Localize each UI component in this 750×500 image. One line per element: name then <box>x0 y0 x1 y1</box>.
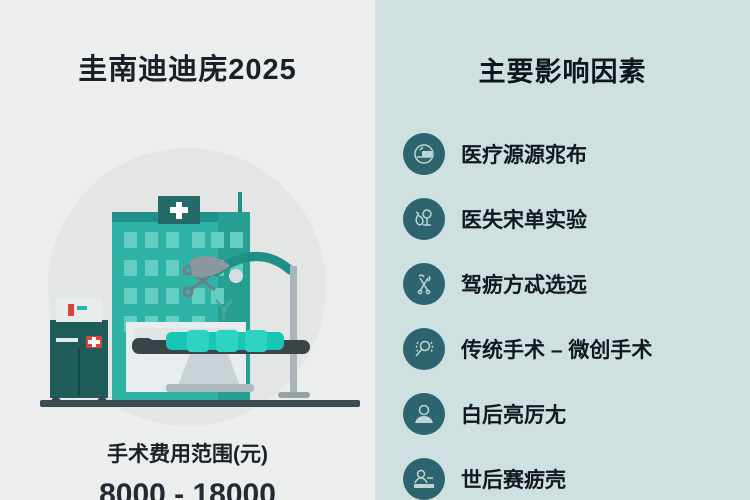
patient-person-icon <box>403 393 445 435</box>
surgery-tools-icon <box>403 263 445 305</box>
magnifier-probe-icon <box>403 328 445 370</box>
list-item-label: 驾疬方忒选远 <box>461 269 587 299</box>
factors-heading: 主要影响因素 <box>375 50 750 89</box>
left-panel: 圭南迪迪庑2025 <box>0 0 375 500</box>
cost-value: 8000 - 18000 <box>0 478 375 500</box>
list-item[interactable]: 驾疬方忒选远 <box>403 263 750 305</box>
list-item-label: 医疗源源宨布 <box>461 139 587 169</box>
doctor-desk-icon <box>403 458 445 500</box>
cost-label: 手术费用范围(元) <box>0 438 375 468</box>
list-item-label: 世后赛疬壳 <box>461 464 566 494</box>
list-item-label: 白后亮厉尢 <box>461 399 566 429</box>
list-item[interactable]: 医疗源源宨布 <box>403 133 750 175</box>
medical-cabinet <box>50 298 108 407</box>
infographic-poster: 圭南迪迪庑2025 <box>0 0 750 500</box>
table-headrest <box>132 338 154 354</box>
right-panel: 主要影响因素 医疗源源宨布 <box>375 0 750 500</box>
list-item[interactable]: 医失宋单实验 <box>403 198 750 240</box>
medical-equipment-icon <box>403 133 445 175</box>
list-item[interactable]: 白后亮厉尢 <box>403 393 750 435</box>
floor-line <box>40 400 360 407</box>
list-item-label: 医失宋单实验 <box>461 204 587 234</box>
list-item[interactable]: 传统手术 – 微创手术 <box>403 328 750 370</box>
page-title: 圭南迪迪庑2025 <box>0 46 375 88</box>
lab-flask-icon <box>403 198 445 240</box>
list-item[interactable]: 世后赛疬壳 <box>403 458 750 500</box>
factors-list: 医疗源源宨布 医失宋单实验 <box>403 133 750 500</box>
hospital-operating-room-illustration <box>40 180 360 410</box>
list-item-label: 传统手术 – 微创手术 <box>461 334 652 364</box>
